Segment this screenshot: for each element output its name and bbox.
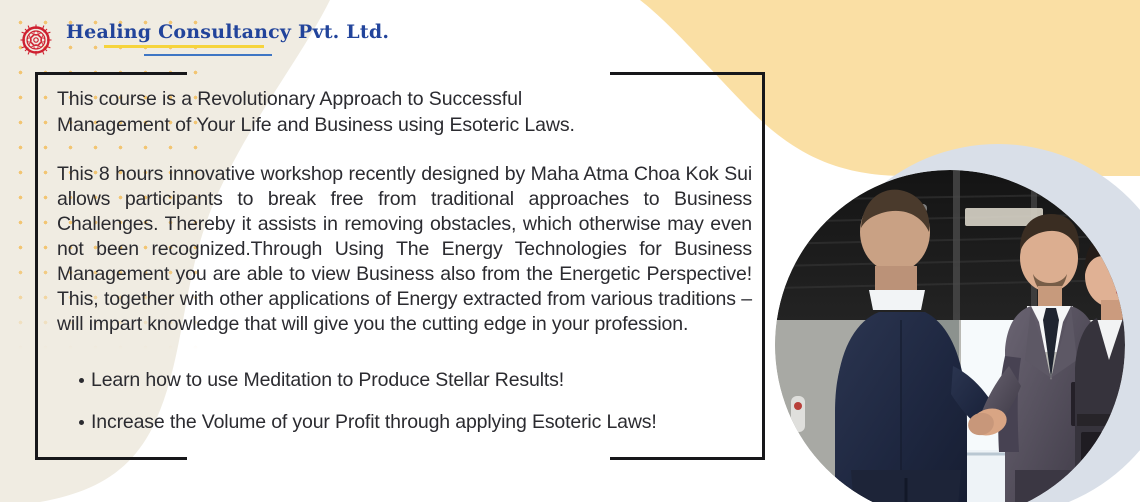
course-description: This course is a Revolutionary Approach … <box>57 86 752 453</box>
frame-rule-right <box>762 72 765 459</box>
handshake-illustration <box>775 170 1125 502</box>
brand-name-lockup: Healing Consultancy Pvt. Ltd. <box>66 23 389 57</box>
frame-rule-bottom-left <box>35 457 187 460</box>
logo-underline-blue <box>144 54 272 56</box>
list-item: Learn how to use Meditation to Produce S… <box>79 369 752 391</box>
frame-rule-left-lower <box>35 340 38 460</box>
brand-logo[interactable]: Healing Consultancy Pvt. Ltd. <box>18 22 389 58</box>
logo-underline-yellow <box>104 45 264 48</box>
list-item: Increase the Volume of your Profit throu… <box>79 411 752 433</box>
frame-rule-top-left <box>35 72 187 75</box>
brand-name: Healing Consultancy Pvt. Ltd. <box>66 21 389 43</box>
course-banner: Healing Consultancy Pvt. Ltd. This cours… <box>0 0 1140 502</box>
mandala-emblem-icon <box>18 22 54 58</box>
frame-rule-bottom-right <box>610 457 765 460</box>
benefits-list: Learn how to use Meditation to Produce S… <box>57 369 752 433</box>
body-paragraph: This 8 hours innovative workshop recentl… <box>57 162 752 337</box>
frame-rule-top-right <box>610 72 765 75</box>
business-handshake-photo <box>775 170 1125 502</box>
intro-paragraph: This course is a Revolutionary Approach … <box>57 86 752 138</box>
